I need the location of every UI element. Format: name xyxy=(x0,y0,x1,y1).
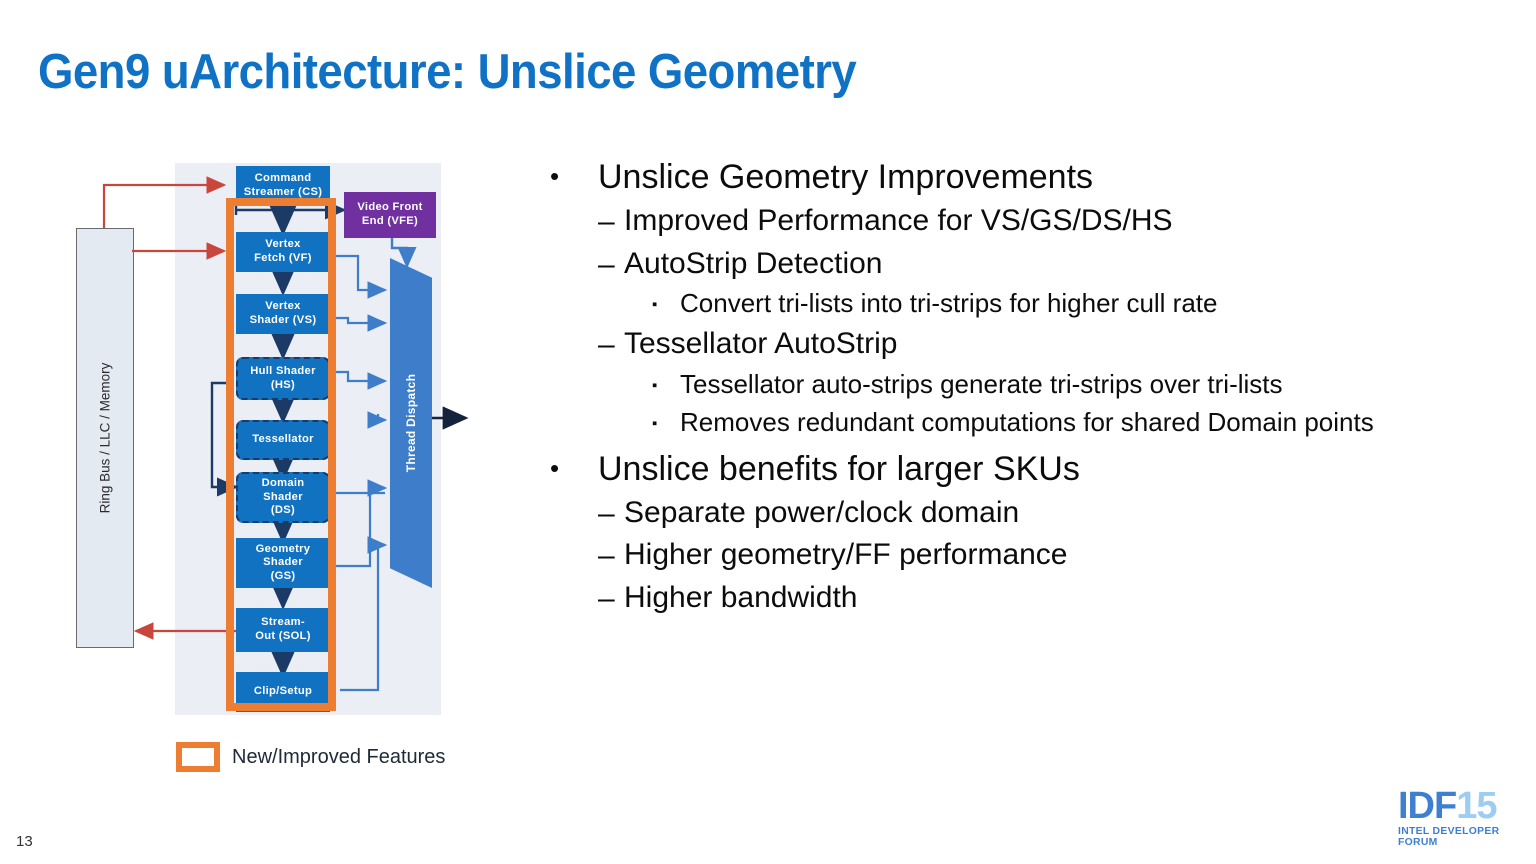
node-label-line2: Shader xyxy=(263,556,303,568)
node-label-line3: (DS) xyxy=(271,504,295,516)
node-label-line2: Shader xyxy=(263,491,303,503)
bullet-list: •Unslice Geometry Improvements–Improved … xyxy=(540,158,1500,617)
node-label-line2: Fetch (VF) xyxy=(254,252,312,264)
bullet-text: AutoStrip Detection xyxy=(624,247,1500,281)
bullet-marker-icon: – xyxy=(598,538,624,573)
bullet-marker-icon: ▪ xyxy=(652,408,680,432)
bullet-text: Higher bandwidth xyxy=(624,581,1500,615)
bullet-item-l3: ▪Removes redundant computations for shar… xyxy=(540,408,1500,438)
node-label-line2: End (VFE) xyxy=(362,215,418,227)
bullet-item-l2: –Higher geometry/FF performance xyxy=(540,538,1500,573)
bullet-text: Convert tri-lists into tri-strips for hi… xyxy=(680,289,1500,319)
bullet-spacer xyxy=(540,440,1500,450)
bullet-marker-icon: – xyxy=(598,247,624,282)
node-label-line1: Clip/Setup xyxy=(254,685,312,697)
node-label-line1: Command xyxy=(255,172,312,184)
legend-label: New/Improved Features xyxy=(232,746,445,769)
node-label-line1: Vertex xyxy=(265,300,300,312)
bullet-text: Removes redundant computations for share… xyxy=(680,408,1500,438)
node-tessellator[interactable]: Tessellator xyxy=(236,420,330,460)
node-label-line3: (GS) xyxy=(271,570,296,582)
legend-swatch-icon xyxy=(176,742,220,772)
node-domain-shader[interactable]: Domain Shader (DS) xyxy=(236,472,330,523)
node-geometry-shader[interactable]: Geometry Shader (GS) xyxy=(236,538,330,588)
node-label-line1: Tessellator xyxy=(252,433,314,445)
bullet-marker-icon: • xyxy=(540,450,598,483)
bullet-item-l3: ▪Convert tri-lists into tri-strips for h… xyxy=(540,289,1500,319)
node-clip-setup[interactable]: Clip/Setup xyxy=(236,672,330,712)
slide-root: Gen9 uArchitecture: Unslice Geometry Rin… xyxy=(0,0,1536,864)
thread-dispatch-block[interactable]: Thread Dispatch xyxy=(390,258,432,588)
node-label-line1: Video Front xyxy=(357,201,422,213)
node-label-line2: Streamer (CS) xyxy=(244,186,323,198)
bullet-marker-icon: – xyxy=(598,581,624,616)
bullet-text: Unslice Geometry Improvements xyxy=(598,158,1500,196)
idf-logo-year-text: 15 xyxy=(1456,785,1496,827)
node-hull-shader[interactable]: Hull Shader (HS) xyxy=(236,357,330,400)
node-vertex-fetch[interactable]: Vertex Fetch (VF) xyxy=(236,232,330,272)
bullet-text: Improved Performance for VS/GS/DS/HS xyxy=(624,204,1500,238)
node-label-line1: Vertex xyxy=(265,238,300,250)
bullet-marker-icon: ▪ xyxy=(652,289,680,313)
node-command-streamer[interactable]: Command Streamer (CS) xyxy=(236,166,330,206)
node-video-front-end[interactable]: Video Front End (VFE) xyxy=(344,192,436,238)
bullet-text: Separate power/clock domain xyxy=(624,496,1500,530)
bullet-item-l2: –Improved Performance for VS/GS/DS/HS xyxy=(540,204,1500,239)
node-label-line2: (HS) xyxy=(271,379,295,391)
node-vertex-shader[interactable]: Vertex Shader (VS) xyxy=(236,294,330,334)
page-number: 13 xyxy=(16,833,33,850)
bullet-marker-icon: – xyxy=(598,327,624,362)
bullet-text: Higher geometry/FF performance xyxy=(624,538,1500,572)
bullet-text: Tessellator auto-strips generate tri-str… xyxy=(680,370,1500,400)
idf-logo-subtitle: INTEL DEVELOPER FORUM xyxy=(1398,826,1524,848)
bullet-item-l1: •Unslice Geometry Improvements xyxy=(540,158,1500,196)
bullet-text: Tessellator AutoStrip xyxy=(624,327,1500,361)
bullet-marker-icon: ▪ xyxy=(652,370,680,394)
node-stream-out[interactable]: Stream- Out (SOL) xyxy=(236,608,330,652)
bullet-item-l2: –Separate power/clock domain xyxy=(540,496,1500,531)
bullet-item-l2: –Higher bandwidth xyxy=(540,581,1500,616)
bullet-marker-icon: – xyxy=(598,204,624,239)
bullet-item-l2: –AutoStrip Detection xyxy=(540,247,1500,282)
bullet-item-l3: ▪Tessellator auto-strips generate tri-st… xyxy=(540,370,1500,400)
node-label-line2: Shader (VS) xyxy=(250,314,317,326)
legend: New/Improved Features xyxy=(176,742,445,772)
node-label-line1: Geometry xyxy=(256,543,311,555)
thread-dispatch-label: Thread Dispatch xyxy=(404,374,418,473)
bullet-item-l2: –Tessellator AutoStrip xyxy=(540,327,1500,362)
bullet-marker-icon: – xyxy=(598,496,624,531)
bullet-text: Unslice benefits for larger SKUs xyxy=(598,450,1500,488)
bullet-item-l1: •Unslice benefits for larger SKUs xyxy=(540,450,1500,488)
architecture-diagram: Ring Bus / LLC / Memory xyxy=(0,0,540,800)
idf-logo-wordmark: IDF15 xyxy=(1398,788,1522,824)
node-label-line1: Hull Shader xyxy=(250,365,315,377)
node-label-line1: Stream- xyxy=(261,616,305,628)
idf15-logo: IDF15 INTEL DEVELOPER FORUM xyxy=(1398,788,1522,850)
idf-logo-idf-text: IDF xyxy=(1398,785,1456,827)
node-label-line1: Domain xyxy=(262,477,305,489)
node-label-line2: Out (SOL) xyxy=(255,630,311,642)
bullet-marker-icon: • xyxy=(540,158,598,191)
